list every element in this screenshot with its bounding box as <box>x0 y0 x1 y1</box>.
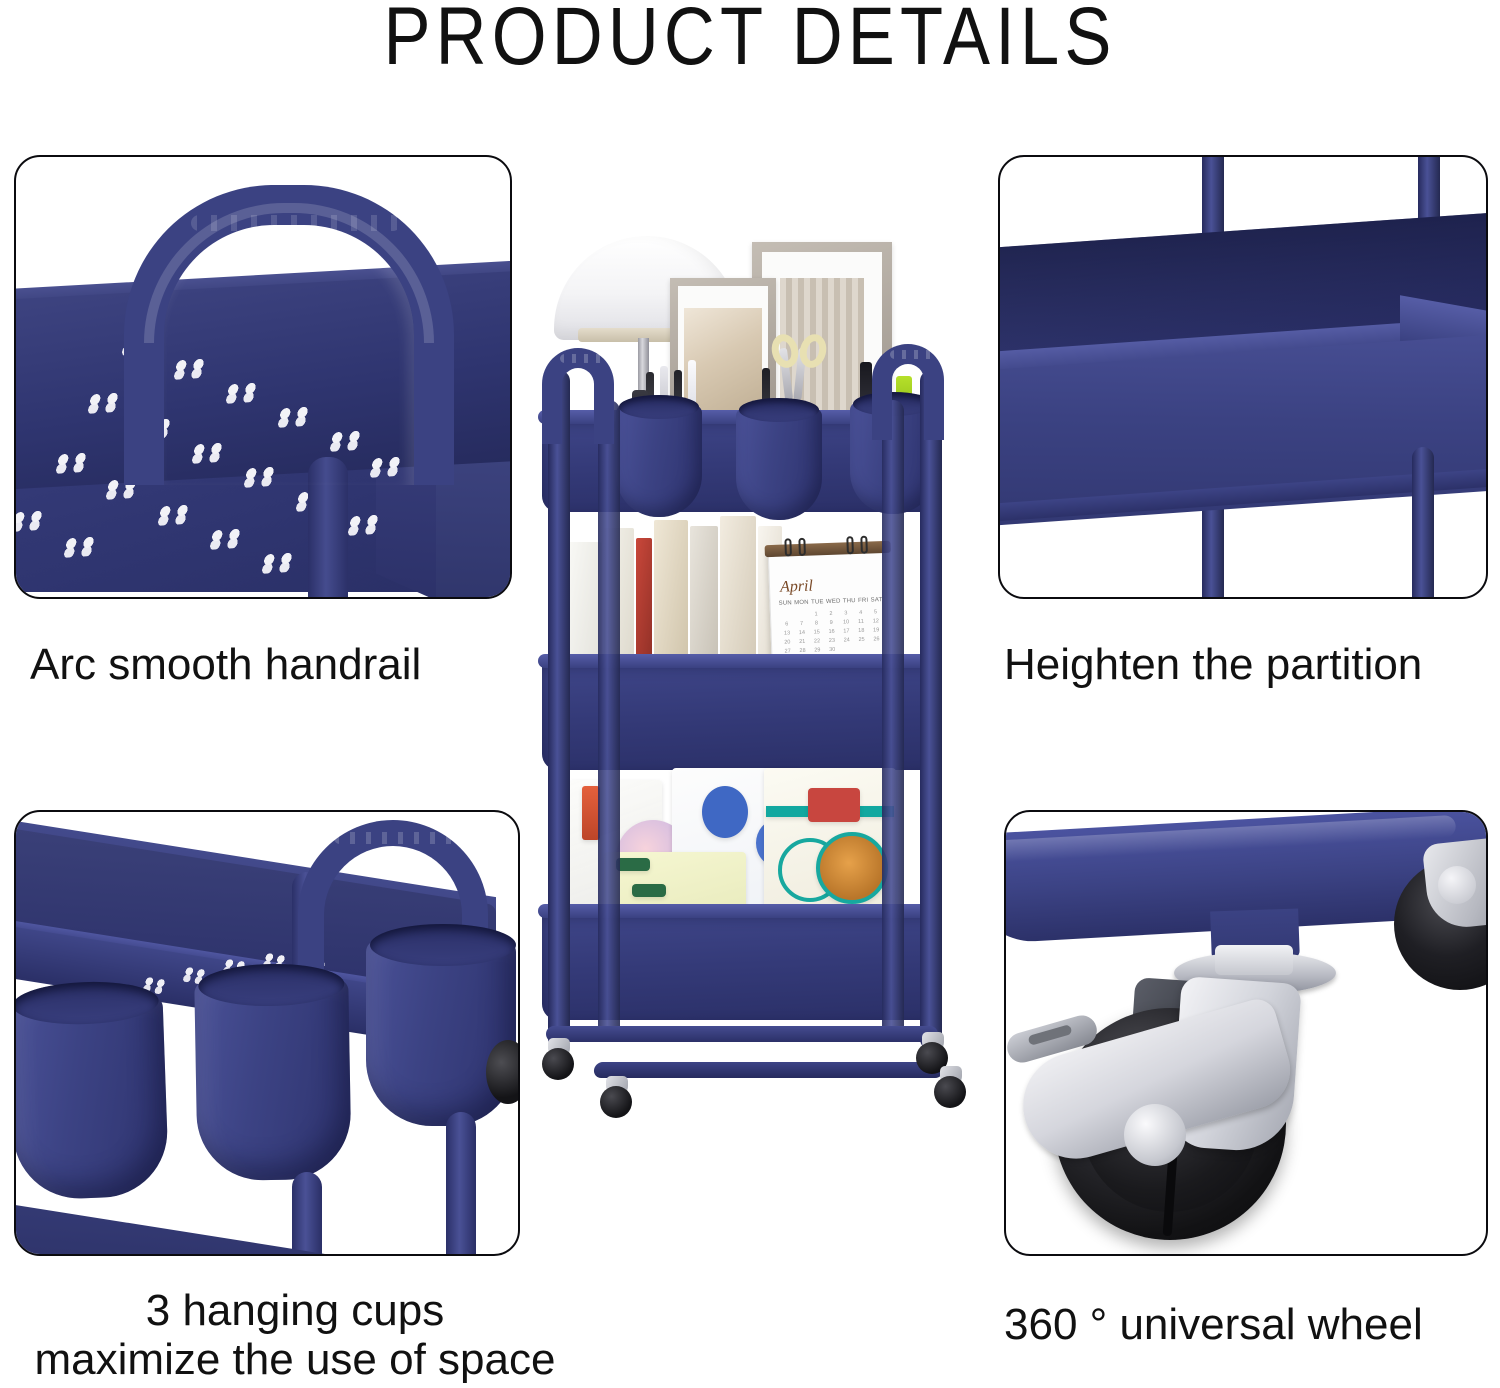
hanging-cup-3 <box>366 940 516 1126</box>
granola-bag-red-label <box>808 788 860 822</box>
calendar-ring-2 <box>798 538 806 556</box>
panel-360-universal-wheel <box>1004 810 1488 1256</box>
calendar-day-sat: SAT <box>871 597 883 603</box>
handle-grip-right <box>890 350 948 359</box>
cart-base-rail-back <box>593 1062 945 1078</box>
calendar-ring-1 <box>784 538 792 556</box>
secondary-caster-hub <box>1438 866 1476 904</box>
caster-tire <box>600 1086 632 1118</box>
handle-grip-left <box>560 354 618 363</box>
panel-arc-smooth-handrail <box>14 155 512 599</box>
caster-tire <box>934 1076 966 1108</box>
caster-tire <box>542 1048 574 1080</box>
caption-360-universal-wheel: 360 ° universal wheel <box>1004 1300 1496 1349</box>
cart-leg-back-left <box>598 400 620 1040</box>
cart-leg-right-lower <box>1412 447 1434 599</box>
calendar-day-thu: THU <box>843 598 856 604</box>
hanging-cup-1 <box>616 405 702 517</box>
snack-bag-green-label-1 <box>616 858 650 871</box>
caption-arc-smooth-handrail: Arc smooth handrail <box>30 640 530 689</box>
cart-leg-front-right <box>920 370 942 1050</box>
calendar-month-label: April <box>780 578 813 597</box>
cart-leg-front-left <box>548 370 570 1050</box>
snack-bag-green-label-2 <box>632 884 666 897</box>
hanging-cup-2 <box>194 979 351 1182</box>
cart-leg-back-right <box>882 400 904 1040</box>
calendar-top-bar <box>765 541 891 557</box>
calendar-day-headers: SUN MON TUE WED THU FRI SAT <box>779 597 883 607</box>
granola-bag-teal-circle-2 <box>816 832 888 904</box>
hanging-cup-1 <box>14 995 169 1200</box>
page-title: PRODUCT DETAILS <box>105 0 1395 80</box>
calendar-ring-4 <box>860 536 868 554</box>
caption-3-hanging-cups: 3 hanging cups maximize the use of space <box>0 1286 590 1385</box>
caster-hub-cap <box>1124 1104 1186 1166</box>
cart-post-lower-right <box>446 1112 476 1256</box>
caster-swivel-nut <box>1215 945 1293 975</box>
calendar-day-sun: SUN <box>779 600 792 606</box>
hanging-cup-2 <box>736 408 822 520</box>
calendar-day-mon: MON <box>794 600 809 607</box>
product-rolling-cart: April SUN MON TUE WED THU FRI SAT 123456… <box>520 220 980 1160</box>
calendar-day-wed: WED <box>826 599 841 606</box>
calendar-day-tue: TUE <box>811 599 824 605</box>
cart-base-rail-front <box>546 1026 938 1042</box>
snack-bag-blue-dot-1 <box>702 786 748 838</box>
handle-grip-texture <box>334 832 462 844</box>
handle-grip-texture <box>191 215 401 231</box>
cart-post-lower-left <box>292 1172 322 1256</box>
panel-3-hanging-cups <box>14 810 520 1256</box>
caster-back-right <box>934 1066 968 1106</box>
calendar-day-fri: FRI <box>858 598 868 604</box>
calendar-ring-3 <box>846 536 854 554</box>
caption-heighten-the-partition: Heighten the partition <box>1004 640 1500 689</box>
caster-back-left <box>600 1076 634 1116</box>
caster-front-left <box>542 1038 576 1078</box>
panel-heighten-the-partition <box>998 155 1488 599</box>
